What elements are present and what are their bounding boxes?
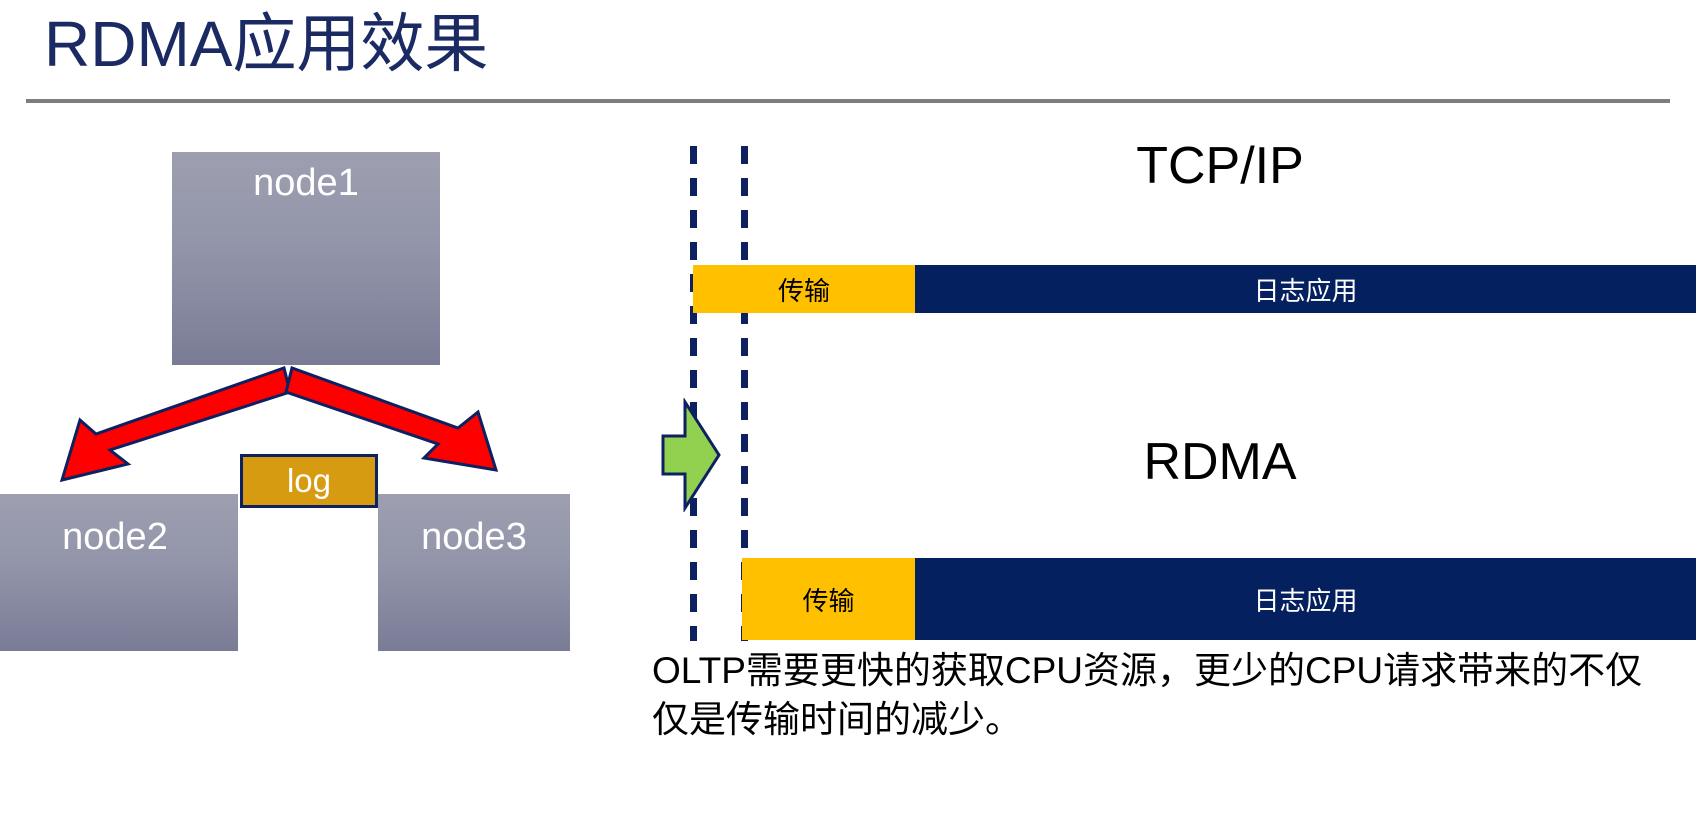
log-box: log: [240, 454, 378, 508]
caption-text: OLTP需要更快的获取CPU资源，更少的CPU请求带来的不仅仅是传输时间的减少。: [652, 646, 1672, 744]
node2-label: node2: [62, 516, 168, 558]
node-box-node3: node3: [378, 494, 570, 651]
node3-label: node3: [421, 516, 527, 558]
slide-canvas: RDMA应用效果 node1 node2 node3 log TCP/IP 传输…: [0, 0, 1696, 826]
guide-line-start: [690, 146, 697, 641]
timeline-row-tcpip: 传输 日志应用: [693, 265, 1696, 313]
title-divider: [26, 99, 1670, 103]
segment-transfer-rdma: 传输: [742, 558, 915, 640]
segment-apply-rdma: 日志应用: [915, 558, 1696, 640]
improvement-arrow-icon: [657, 398, 723, 512]
log-box-label: log: [287, 462, 331, 499]
page-title: RDMA应用效果: [44, 2, 488, 86]
node-box-node2: node2: [0, 494, 238, 651]
node1-label: node1: [253, 162, 359, 204]
timeline-row-rdma: 传输 日志应用: [742, 558, 1696, 640]
node-box-node1: node1: [172, 152, 440, 365]
protocol-label-tcpip: TCP/IP: [900, 136, 1540, 196]
segment-transfer-tcpip: 传输: [693, 265, 915, 313]
segment-apply-tcpip: 日志应用: [915, 265, 1696, 313]
protocol-label-rdma: RDMA: [900, 432, 1540, 492]
